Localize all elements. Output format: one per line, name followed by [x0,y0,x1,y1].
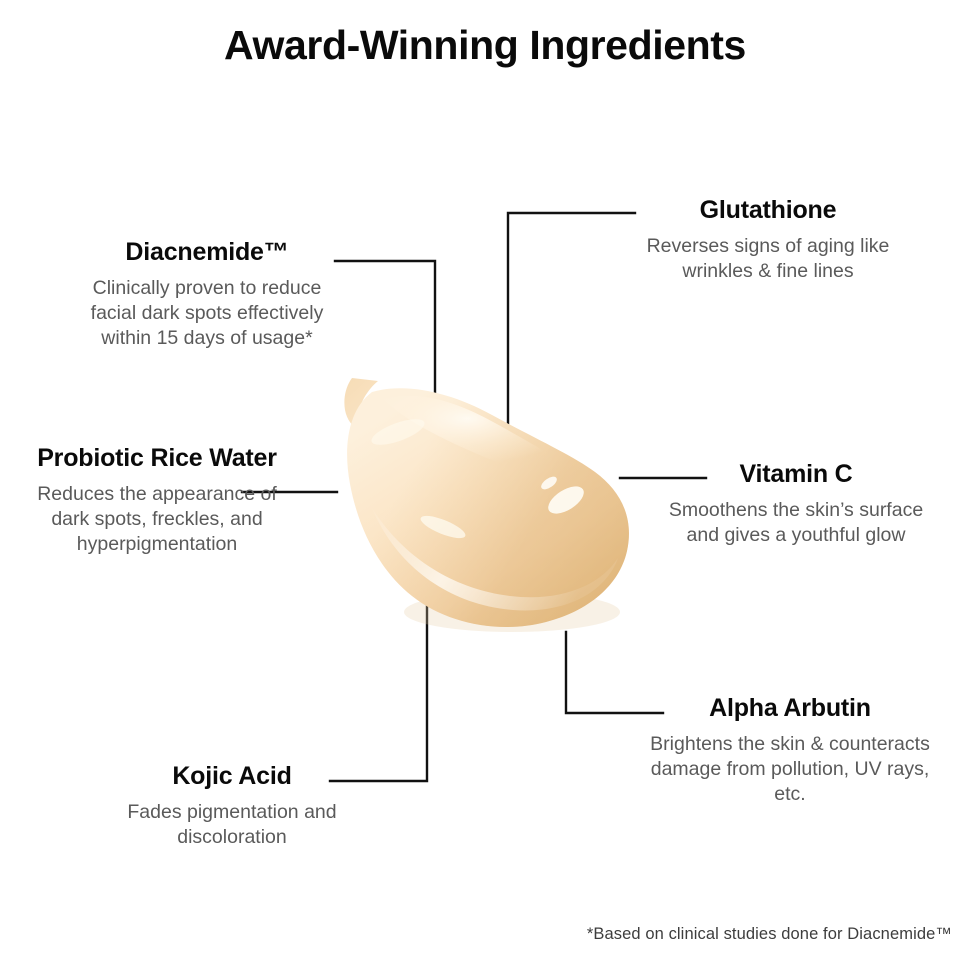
callout-diacnemide-description: Clinically proven to reduce facial dark … [72,276,342,351]
callout-kojic-acid-description: Fades pigmentation and discoloration [98,800,366,850]
callout-kojic-acid: Kojic Acid Fades pigmentation and discol… [98,762,366,850]
callout-kojic-acid-title: Kojic Acid [98,762,366,791]
callout-glutathione-description: Reverses signs of aging like wrinkles & … [640,234,896,284]
callout-glutathione: Glutathione Reverses signs of aging like… [640,196,896,284]
infographic-canvas: Award-Winning Ingredients [0,0,970,970]
callout-diacnemide-title: Diacnemide™ [72,238,342,267]
footnote: *Based on clinical studies done for Diac… [587,925,952,944]
callout-probiotic-rice-water-description: Reduces the appearance of dark spots, fr… [34,482,280,557]
callout-probiotic-rice-water-title: Probiotic Rice Water [34,444,280,473]
callout-glutathione-title: Glutathione [640,196,896,225]
callout-vitamin-c-description: Smoothens the skin’s surface and gives a… [662,498,930,548]
callout-alpha-arbutin-title: Alpha Arbutin [642,694,938,723]
callout-alpha-arbutin: Alpha Arbutin Brightens the skin & count… [642,694,938,807]
callout-alpha-arbutin-description: Brightens the skin & counteracts damage … [642,732,938,807]
callout-diacnemide: Diacnemide™ Clinically proven to reduce … [72,238,342,351]
callout-probiotic-rice-water: Probiotic Rice Water Reduces the appeara… [34,444,280,557]
callout-vitamin-c: Vitamin C Smoothens the skin’s surface a… [662,460,930,548]
callout-vitamin-c-title: Vitamin C [662,460,930,489]
